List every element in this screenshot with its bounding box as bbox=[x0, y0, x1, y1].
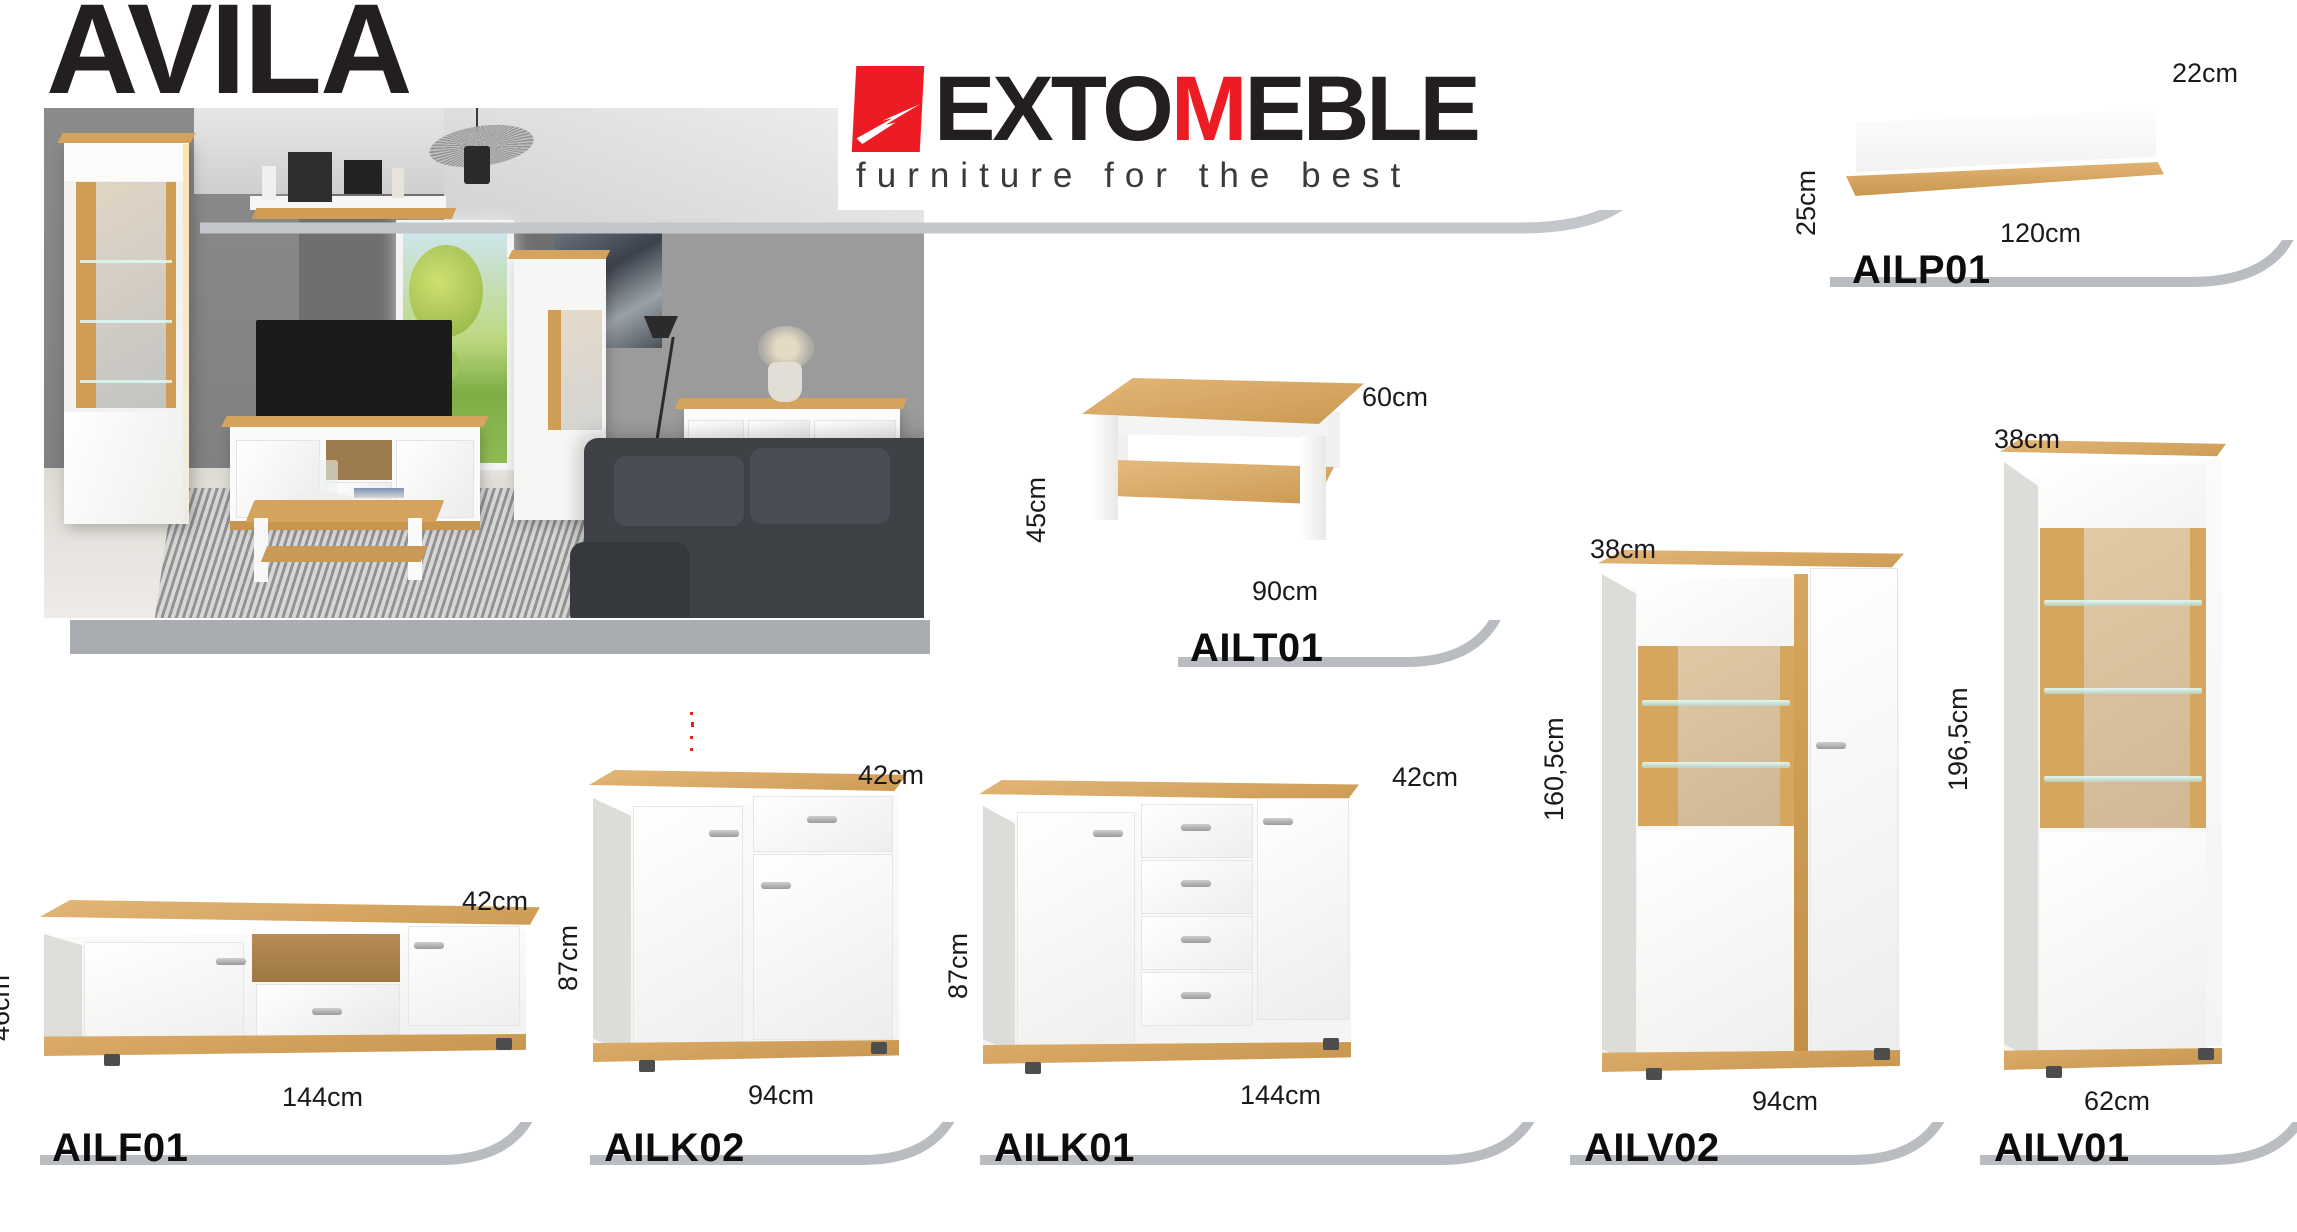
dim-ailk01-width: 144cm bbox=[1240, 1080, 1321, 1111]
handle-icon bbox=[1093, 830, 1123, 837]
scene-sofa bbox=[584, 438, 924, 618]
product-code-ailt01: AILT01 bbox=[1190, 626, 1323, 671]
handle-icon bbox=[1263, 818, 1293, 825]
photo-shadow-bar bbox=[70, 620, 930, 654]
furniture-foot bbox=[1025, 1062, 1041, 1074]
registration-mark bbox=[690, 736, 693, 739]
product-ailv02 bbox=[1586, 550, 1916, 1110]
lightning-bolt-icon bbox=[852, 66, 925, 152]
dim-ailv02-width: 94cm bbox=[1752, 1086, 1818, 1117]
product-code-ailk02: AILK02 bbox=[604, 1126, 745, 1171]
handle-icon bbox=[414, 942, 444, 949]
cabinet-side-panel bbox=[1602, 574, 1636, 1064]
dim-ailp01-width: 120cm bbox=[2000, 218, 2081, 249]
logo-row: EXTOMEBLE bbox=[854, 66, 1478, 152]
brand-name-part2: EBLE bbox=[1244, 58, 1477, 160]
cabinet-plinth bbox=[593, 1040, 899, 1062]
shelf-books bbox=[288, 152, 332, 202]
cabinet-plinth bbox=[2004, 1048, 2222, 1070]
handle-icon bbox=[1181, 880, 1211, 887]
handle-icon bbox=[1181, 824, 1211, 831]
tv-unit-side-panel bbox=[44, 934, 82, 1046]
dim-ailk02-height: 87cm bbox=[553, 925, 584, 991]
banner-swoosh-line bbox=[200, 206, 1700, 326]
sideboard-drawer bbox=[1141, 804, 1253, 858]
sideboard-plinth bbox=[983, 1042, 1351, 1064]
dim-ailv02-height: 160,5cm bbox=[1539, 717, 1570, 821]
glass-shelf bbox=[80, 320, 172, 323]
sideboard-drawer-stack bbox=[1141, 804, 1253, 1042]
glass-shelf bbox=[1642, 762, 1790, 768]
furniture-foot bbox=[871, 1042, 887, 1054]
glass-shelf bbox=[2044, 776, 2202, 782]
furniture-foot bbox=[2046, 1066, 2062, 1078]
cabinet-lower-door bbox=[64, 412, 189, 524]
sofa-arm bbox=[570, 542, 690, 618]
brand-logo-banner: EXTOMEBLE furniture for the best bbox=[838, 28, 1718, 210]
brand-name-part1: EXTO bbox=[934, 58, 1171, 160]
dim-ailt01-height: 45cm bbox=[1021, 477, 1052, 543]
shelf-decor-vase bbox=[262, 166, 276, 200]
decor-vase bbox=[768, 362, 802, 402]
product-ailv01 bbox=[1990, 440, 2240, 1110]
cabinet-door-right bbox=[1810, 568, 1898, 1060]
cabinet-side-panel bbox=[593, 798, 631, 1054]
scene-display-cabinet bbox=[64, 142, 189, 524]
handle-icon bbox=[807, 816, 837, 823]
dim-ailv02-depth: 38cm bbox=[1590, 534, 1656, 565]
furniture-foot bbox=[1874, 1048, 1890, 1060]
dim-ailk01-depth: 42cm bbox=[1392, 762, 1458, 793]
bolt-glyph bbox=[856, 104, 920, 144]
led-glow bbox=[183, 144, 189, 524]
brand-wordmark: EXTOMEBLE bbox=[934, 67, 1478, 152]
dim-ailt01-depth: 60cm bbox=[1362, 382, 1428, 413]
cabinet-glass-section bbox=[76, 182, 176, 408]
product-code-ailf01: AILF01 bbox=[52, 1126, 188, 1171]
furniture-foot bbox=[2198, 1048, 2214, 1060]
dim-ailk01-height: 87cm bbox=[943, 933, 974, 999]
sideboard-door-left bbox=[1017, 812, 1135, 1046]
registration-mark bbox=[690, 748, 693, 751]
dim-ailv01-width: 62cm bbox=[2084, 1086, 2150, 1117]
sideboard-drawer bbox=[748, 420, 810, 440]
chandelier-core bbox=[464, 146, 490, 184]
table-leg-front-right bbox=[1300, 436, 1326, 540]
glass-shelf bbox=[1642, 700, 1790, 706]
cabinet-white-header bbox=[1638, 578, 1794, 650]
glass-shelf bbox=[80, 260, 172, 263]
glass-shelf bbox=[2044, 688, 2202, 694]
dim-ailv01-depth: 38cm bbox=[1994, 424, 2060, 455]
handle-icon bbox=[1181, 992, 1211, 999]
sideboard-side-panel bbox=[983, 806, 1015, 1054]
registration-mark bbox=[691, 722, 694, 727]
cabinet-top-panel bbox=[57, 133, 195, 143]
shelf-clock bbox=[344, 160, 382, 194]
scene-coffee-table bbox=[250, 500, 440, 558]
cabinet-lower-door bbox=[1638, 830, 1794, 1060]
tv-unit-plinth bbox=[44, 1034, 526, 1056]
sideboard-drawer bbox=[1141, 916, 1253, 970]
sideboard-drawer bbox=[1141, 860, 1253, 914]
cabinet-glass-section bbox=[2040, 528, 2206, 828]
product-ailk01 bbox=[965, 780, 1365, 1100]
handle-icon bbox=[1816, 742, 1846, 749]
dim-ailt01-width: 90cm bbox=[1252, 576, 1318, 607]
handle-icon bbox=[216, 958, 246, 965]
sideboard-door-right bbox=[1257, 798, 1349, 1020]
handle-icon bbox=[761, 882, 791, 889]
product-ailk02 bbox=[575, 770, 915, 1100]
shelf-decor-small bbox=[392, 168, 404, 198]
product-code-ailv01: AILV01 bbox=[1994, 1126, 2130, 1171]
handle-icon bbox=[709, 830, 739, 837]
product-code-ailk01: AILK01 bbox=[994, 1126, 1135, 1171]
glass-shelf bbox=[2044, 600, 2202, 606]
registration-mark bbox=[690, 712, 693, 715]
shelf-back-panel bbox=[1856, 110, 2156, 172]
product-code-ailv02: AILV02 bbox=[1584, 1126, 1720, 1171]
dim-ailf01-depth: 42cm bbox=[462, 886, 528, 917]
product-ailp01 bbox=[1840, 110, 2160, 220]
cabinet-lower-door bbox=[2040, 832, 2206, 1060]
glass-shelf bbox=[80, 380, 172, 383]
room-scene-photo bbox=[44, 108, 924, 618]
dim-ailk02-depth: 42cm bbox=[858, 760, 924, 791]
cabinet-drawer bbox=[753, 796, 893, 852]
sideboard-drawer bbox=[1141, 972, 1253, 1026]
furniture-foot bbox=[104, 1054, 120, 1066]
dim-ailf01-height: 46cm bbox=[0, 975, 16, 1041]
furniture-foot bbox=[1646, 1068, 1662, 1080]
furniture-foot bbox=[496, 1038, 512, 1050]
cabinet-right-glass bbox=[548, 310, 602, 430]
furniture-foot bbox=[1323, 1038, 1339, 1050]
cabinet-white-header bbox=[2040, 464, 2206, 532]
dim-ailf01-width: 144cm bbox=[282, 1082, 363, 1113]
table-lower-shelf bbox=[1094, 460, 1334, 504]
sofa-cushion bbox=[614, 456, 744, 526]
page-title: AVILA bbox=[46, 0, 411, 114]
tv-unit-open-niche bbox=[252, 934, 400, 982]
cabinet-white-header bbox=[64, 143, 189, 181]
handle-icon bbox=[1181, 936, 1211, 943]
handle-icon bbox=[312, 1008, 342, 1015]
cabinet-door-left bbox=[633, 806, 743, 1046]
cabinet-side-panel bbox=[2004, 462, 2038, 1062]
sofa-cushion bbox=[750, 448, 890, 524]
tv-unit-door-left bbox=[84, 942, 244, 1042]
dim-ailp01-height: 25cm bbox=[1791, 170, 1822, 236]
product-code-ailp01: AILP01 bbox=[1852, 248, 1991, 293]
cabinet-glass-section bbox=[1638, 646, 1794, 826]
coffee-table-shelf bbox=[261, 546, 427, 562]
table-leg-front-left bbox=[1092, 416, 1118, 520]
product-ailt01 bbox=[1068, 378, 1378, 558]
brand-tagline: furniture for the best bbox=[856, 156, 1411, 196]
product-ailf01 bbox=[30, 900, 550, 1090]
brand-name-accent: M bbox=[1171, 58, 1245, 160]
dim-ailk02-width: 94cm bbox=[748, 1080, 814, 1111]
scene-tv bbox=[256, 320, 452, 430]
dim-ailp01-depth: 22cm bbox=[2172, 58, 2238, 89]
tv-unit-door-right bbox=[408, 926, 520, 1026]
tv-unit-top bbox=[221, 416, 488, 427]
dim-ailv01-height: 196,5cm bbox=[1943, 687, 1974, 791]
cabinet-oak-mullion bbox=[1794, 574, 1808, 1066]
furniture-foot bbox=[639, 1060, 655, 1072]
decor-books bbox=[354, 488, 404, 498]
